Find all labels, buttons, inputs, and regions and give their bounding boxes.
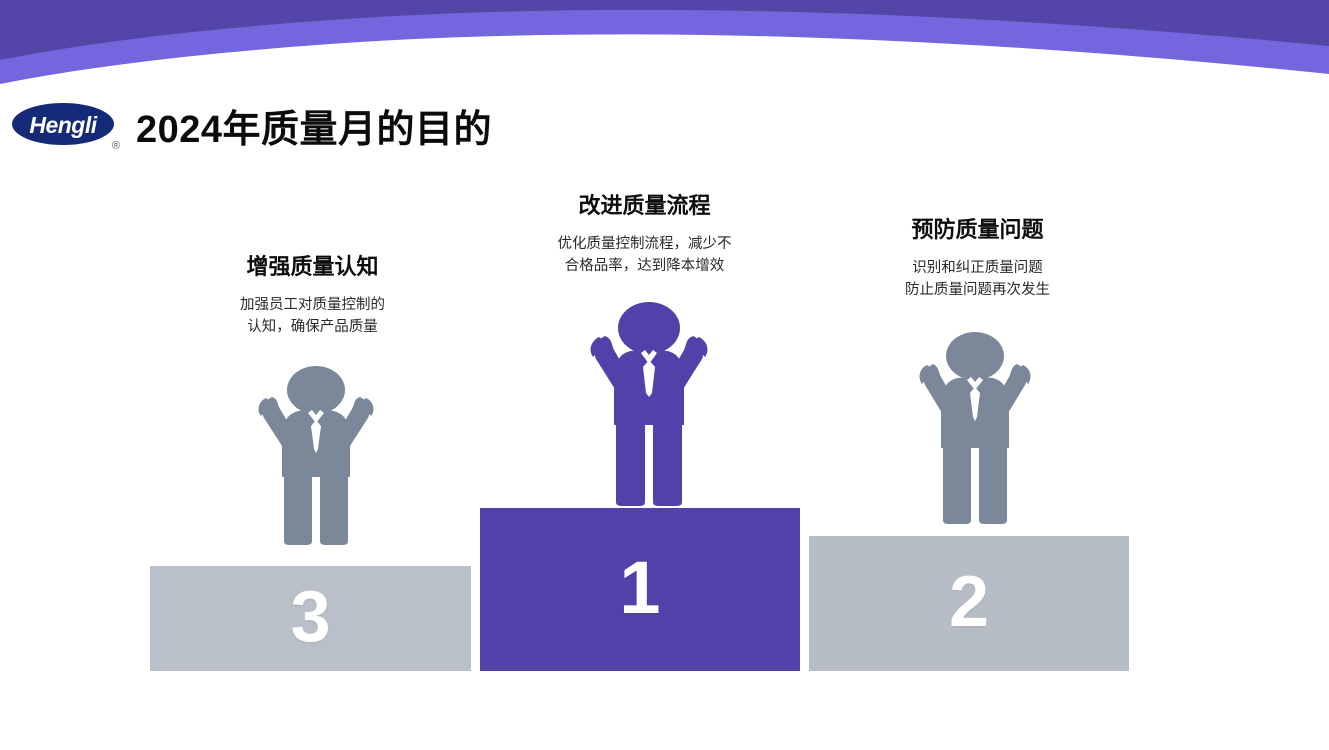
celebrating-person-icon-rank-3 [254, 363, 378, 547]
swoosh-light-band [0, 0, 1329, 84]
goal-block-rank-1: 改进质量流程 优化质量控制流程，减少不 合格品率，达到降本增效 [512, 192, 777, 278]
celebrating-person-icon-rank-2 [916, 328, 1034, 526]
goal-description-rank-3: 加强员工对质量控制的 认知，确保产品质量 [180, 294, 445, 339]
swoosh-dark-band [0, 0, 1329, 60]
podium-number-rank-1: 1 [619, 551, 660, 625]
goal-title-rank-3: 增强质量认知 [180, 253, 445, 282]
goal-description-line: 识别和纠正质量问题 [845, 257, 1110, 279]
goal-description-line: 合格品率，达到降本增效 [512, 255, 777, 277]
podium-number-rank-2: 2 [949, 566, 989, 638]
goal-description-rank-1: 优化质量控制流程，减少不 合格品率，达到降本增效 [512, 233, 777, 278]
slide-canvas: Hengli ® 2024年质量月的目的 增强质量认知 加强员工对质量控制的 认… [0, 0, 1329, 750]
podium-number-rank-3: 3 [290, 581, 330, 653]
podium-rank-1: 1 [480, 508, 800, 671]
goal-block-rank-2: 预防质量问题 识别和纠正质量问题 防止质量问题再次发生 [845, 216, 1110, 302]
goal-description-line: 加强员工对质量控制的 [180, 294, 445, 316]
hengli-logo: Hengli ® [12, 101, 122, 151]
goal-title-rank-1: 改进质量流程 [512, 192, 777, 221]
goal-description-rank-2: 识别和纠正质量问题 防止质量问题再次发生 [845, 257, 1110, 302]
goal-description-line: 认知，确保产品质量 [180, 316, 445, 338]
celebrating-person-icon-rank-1 [587, 298, 711, 509]
goal-description-line: 防止质量问题再次发生 [845, 279, 1110, 301]
person-svg [587, 298, 711, 509]
registered-trademark-icon: ® [112, 140, 120, 152]
goal-block-rank-3: 增强质量认知 加强员工对质量控制的 认知，确保产品质量 [180, 253, 445, 339]
podium-rank-3: 3 [150, 566, 471, 671]
page-title: 2024年质量月的目的 [136, 98, 492, 153]
logo-wordmark: Hengli [29, 112, 96, 139]
slide-header: Hengli ® 2024年质量月的目的 [12, 98, 492, 153]
goal-title-rank-2: 预防质量问题 [845, 216, 1110, 245]
person-svg [254, 363, 378, 547]
goal-description-line: 优化质量控制流程，减少不 [512, 233, 777, 255]
person-svg [916, 328, 1034, 526]
podium-rank-2: 2 [809, 536, 1129, 671]
